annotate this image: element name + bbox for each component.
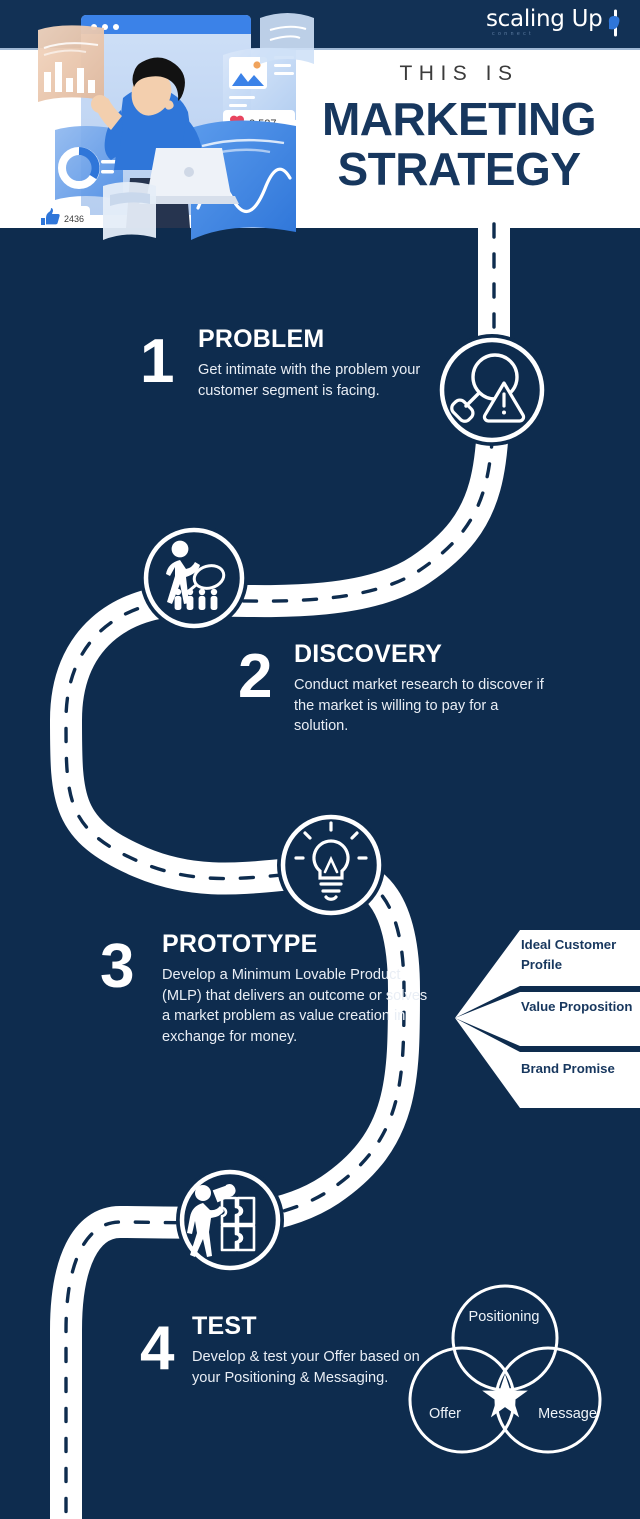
step-4-icon-marker: [176, 1166, 284, 1274]
callout-labels: Ideal Customer Profile Value Proposition…: [455, 925, 640, 1110]
step-2-number: 2: [238, 646, 272, 708]
step-2-title: DISCOVERY: [294, 640, 544, 669]
venn-label-message: Message: [520, 1406, 615, 1422]
step-1-number: 1: [140, 331, 174, 393]
step-4-number: 4: [140, 1318, 174, 1380]
step-3-title: PROTOTYPE: [162, 930, 432, 959]
step-2-body: Conduct market research to discover if t…: [294, 675, 544, 737]
step-3-number: 3: [100, 936, 134, 998]
venn-label-offer: Offer: [405, 1406, 485, 1422]
callout-label-ideal-customer-profile: Ideal Customer Profile: [521, 935, 640, 975]
callout-label-brand-promise: Brand Promise: [521, 1059, 640, 1079]
step-2-icon-marker: [140, 524, 248, 632]
step-1-body: Get intimate with the problem your custo…: [198, 360, 438, 401]
step-3-icon-marker: [277, 811, 385, 919]
venn-labels: Positioning Offer Message: [400, 1278, 640, 1468]
venn-label-positioning: Positioning: [444, 1309, 564, 1325]
step-3-body: Develop a Minimum Lovable Product (MLP) …: [162, 965, 432, 1047]
infographic-page: 3,527: [0, 0, 640, 1519]
step-1-icon-marker: [436, 334, 548, 446]
step-1-title: PROBLEM: [198, 325, 438, 354]
callout-label-value-proposition: Value Proposition: [521, 997, 640, 1017]
